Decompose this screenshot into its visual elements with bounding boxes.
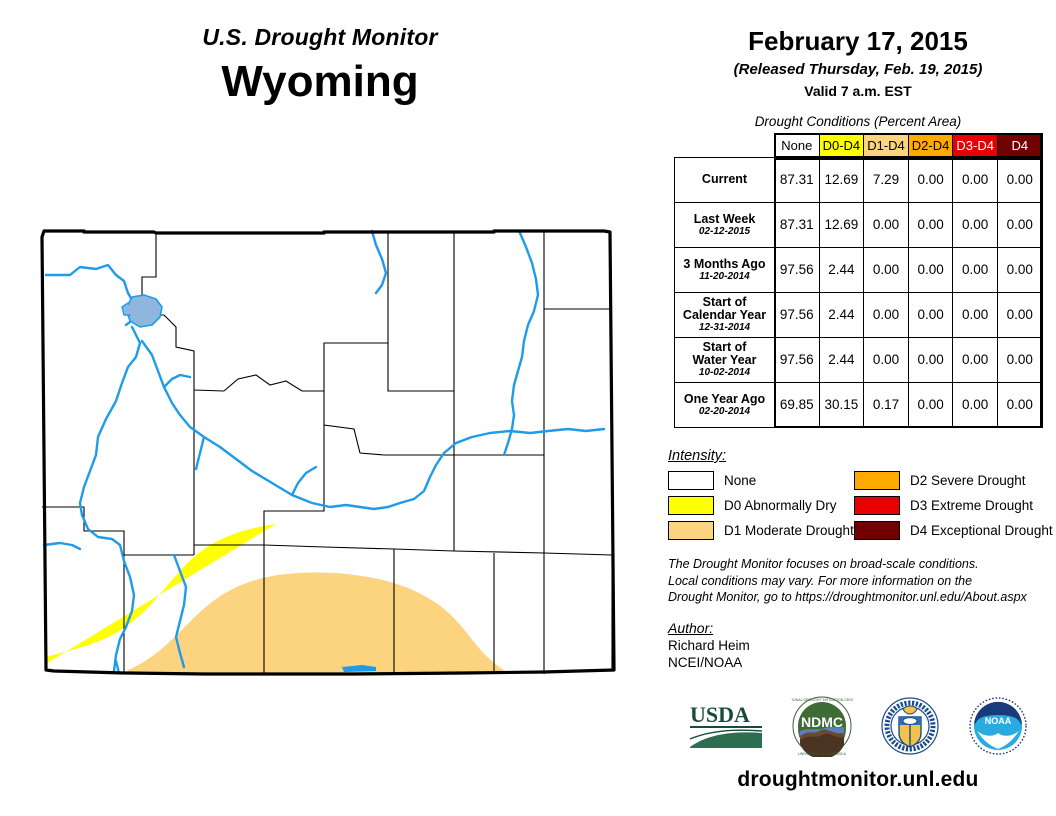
valid-time: Valid 7 a.m. EST — [660, 83, 1056, 99]
table-cell: 97.56 — [775, 248, 820, 293]
table-cell: 0.00 — [864, 338, 909, 383]
program-title: U.S. Drought Monitor — [0, 24, 640, 51]
intensity-legend-title: Intensity: — [668, 448, 1056, 464]
legend-item-d3: D3 Extreme Drought — [854, 496, 1040, 515]
legend-swatch-d3 — [854, 496, 900, 515]
table-cell: 0.00 — [953, 203, 998, 248]
table-cell: 0.00 — [953, 383, 998, 428]
table-cell: 30.15 — [819, 383, 864, 428]
disclaimer-line-2: Local conditions may vary. For more info… — [668, 573, 1056, 590]
table-cell: 87.31 — [775, 203, 820, 248]
table-cell: 0.00 — [864, 293, 909, 338]
author-block: Author: Richard Heim NCEI/NOAA — [668, 620, 1056, 670]
table-cell: 2.44 — [819, 293, 864, 338]
table-row-date: 02-12-2015 — [675, 227, 774, 238]
table-cell: 69.85 — [775, 383, 820, 428]
table-body: Current87.3112.697.290.000.000.00Last We… — [675, 158, 1043, 428]
row-label-line: Current — [675, 173, 774, 186]
row-label-line: Water Year — [675, 354, 774, 367]
disclaimer-text: The Drought Monitor focuses on broad-sca… — [668, 556, 1056, 606]
row-label-line: One Year Ago — [675, 393, 774, 406]
table-row-date: 11-20-2014 — [675, 272, 774, 283]
legend-label: D0 Abnormally Dry — [724, 498, 837, 513]
table-cell: 0.00 — [997, 338, 1042, 383]
table-row-label: One Year Ago02-20-2014 — [675, 383, 775, 428]
table-header-d4: D4 — [997, 134, 1042, 158]
table-cell: 97.56 — [775, 338, 820, 383]
table-cell: 0.17 — [864, 383, 909, 428]
conditions-table-frame: NoneD0-D4D1-D4D2-D4D3-D4D4 Current87.311… — [674, 133, 1042, 428]
svg-text:NATIONAL DROUGHT MITIGATION CE: NATIONAL DROUGHT MITIGATION CENTER — [791, 698, 853, 702]
legend-label: D3 Extreme Drought — [910, 498, 1033, 513]
table-row-label: Current — [675, 158, 775, 203]
legend-label: None — [724, 473, 756, 488]
table-cell: 2.44 — [819, 248, 864, 293]
table-cell: 87.31 — [775, 158, 820, 203]
table-row: Current87.3112.697.290.000.000.00 — [675, 158, 1043, 203]
table-row: One Year Ago02-20-201469.8530.150.170.00… — [675, 383, 1043, 428]
logo-row: USDA NDMC NATIONAL DROUGHT MITIGATION CE… — [660, 688, 1056, 764]
legend-item-d0: D0 Abnormally Dry — [668, 496, 854, 515]
legend-grid: NoneD2 Severe DroughtD0 Abnormally DryD3… — [668, 471, 1056, 540]
row-label-line: Last Week — [675, 213, 774, 226]
row-label-line: 3 Months Ago — [675, 258, 774, 271]
table-cell: 0.00 — [997, 383, 1042, 428]
svg-text:NDMC: NDMC — [801, 714, 843, 730]
usda-logo: USDA — [687, 701, 765, 751]
legend-item-none: None — [668, 471, 854, 490]
noaa-logo: NOAA — [967, 695, 1029, 757]
table-cell: 0.00 — [908, 203, 953, 248]
legend-swatch-d0 — [668, 496, 714, 515]
row-label-line: Calendar Year — [675, 309, 774, 322]
legend-label: D4 Exceptional Drought — [910, 523, 1053, 538]
legend-swatch-none — [668, 471, 714, 490]
table-cell: 0.00 — [953, 248, 998, 293]
table-cell: 12.69 — [819, 203, 864, 248]
table-row-date: 02-20-2014 — [675, 407, 774, 418]
table-row: 3 Months Ago11-20-201497.562.440.000.000… — [675, 248, 1043, 293]
table-cell: 0.00 — [864, 248, 909, 293]
table-row-label: 3 Months Ago11-20-2014 — [675, 248, 775, 293]
table-cell: 0.00 — [953, 158, 998, 203]
table-cell: 0.00 — [908, 158, 953, 203]
legend-swatch-d1 — [668, 521, 714, 540]
legend-swatch-d2 — [854, 471, 900, 490]
table-header-row: NoneD0-D4D1-D4D2-D4D3-D4D4 — [675, 134, 1043, 158]
table-cell: 97.56 — [775, 293, 820, 338]
legend-label: D1 Moderate Drought — [724, 523, 854, 538]
legend-item-d4: D4 Exceptional Drought — [854, 521, 1040, 540]
issue-date: February 17, 2015 — [660, 26, 1056, 57]
commerce-seal — [879, 695, 941, 757]
table-cell: 0.00 — [997, 248, 1042, 293]
release-date: (Released Thursday, Feb. 19, 2015) — [660, 61, 1056, 78]
table-cell: 0.00 — [864, 203, 909, 248]
legend-label: D2 Severe Drought — [910, 473, 1026, 488]
table-cell: 0.00 — [953, 338, 998, 383]
intensity-legend: Intensity: NoneD2 Severe DroughtD0 Abnor… — [668, 448, 1056, 540]
table-cell: 0.00 — [953, 293, 998, 338]
legend-item-d2: D2 Severe Drought — [854, 471, 1040, 490]
table-row-label: Last Week02-12-2015 — [675, 203, 775, 248]
table-row-label: Start ofCalendar Year12-31-2014 — [675, 293, 775, 338]
table-corner-cell — [675, 134, 775, 158]
table-header-none: None — [775, 134, 820, 158]
table-cell: 0.00 — [997, 158, 1042, 203]
table-cell: 0.00 — [997, 293, 1042, 338]
drought-map[interactable] — [24, 215, 640, 705]
table-cell: 0.00 — [908, 293, 953, 338]
table-row-date: 10-02-2014 — [675, 368, 774, 379]
legend-item-d1: D1 Moderate Drought — [668, 521, 854, 540]
state-title: Wyoming — [0, 57, 640, 107]
table-caption: Drought Conditions (Percent Area) — [660, 114, 1056, 129]
svg-text:NOAA: NOAA — [985, 716, 1012, 726]
author-affiliation: NCEI/NOAA — [668, 655, 1056, 670]
info-panel: February 17, 2015 (Released Thursday, Fe… — [660, 0, 1056, 816]
table-row: Start ofCalendar Year12-31-201497.562.44… — [675, 293, 1043, 338]
table-header-d1-d4: D1-D4 — [864, 134, 909, 158]
table-header-d3-d4: D3-D4 — [953, 134, 998, 158]
author-title: Author: — [668, 620, 1056, 636]
table-cell: 0.00 — [908, 248, 953, 293]
legend-swatch-d4 — [854, 521, 900, 540]
disclaimer-line-1: The Drought Monitor focuses on broad-sca… — [668, 556, 1056, 573]
table-row: Start ofWater Year10-02-201497.562.440.0… — [675, 338, 1043, 383]
table-cell: 0.00 — [997, 203, 1042, 248]
table-cell: 7.29 — [864, 158, 909, 203]
map-title-block: U.S. Drought Monitor Wyoming — [0, 24, 640, 107]
drought-conditions-table[interactable]: NoneD0-D4D1-D4D2-D4D3-D4D4 Current87.311… — [674, 133, 1043, 428]
author-name: Richard Heim — [668, 638, 1056, 653]
table-cell: 0.00 — [908, 338, 953, 383]
table-row-date: 12-31-2014 — [675, 323, 774, 334]
date-block: February 17, 2015 (Released Thursday, Fe… — [660, 0, 1056, 99]
table-header-d0-d4: D0-D4 — [819, 134, 864, 158]
footer-url[interactable]: droughtmonitor.unl.edu — [660, 768, 1056, 792]
table-row: Last Week02-12-201587.3112.690.000.000.0… — [675, 203, 1043, 248]
table-cell: 0.00 — [908, 383, 953, 428]
table-row-label: Start ofWater Year10-02-2014 — [675, 338, 775, 383]
svg-text:USDA: USDA — [690, 702, 750, 727]
disclaimer-line-3: Drought Monitor, go to https://droughtmo… — [668, 589, 1056, 606]
ndmc-logo: NDMC NATIONAL DROUGHT MITIGATION CENTER … — [791, 695, 853, 757]
svg-text:UNIVERSITY OF NEBRASKA: UNIVERSITY OF NEBRASKA — [798, 752, 847, 756]
table-cell: 12.69 — [819, 158, 864, 203]
table-cell: 2.44 — [819, 338, 864, 383]
table-header-d2-d4: D2-D4 — [908, 134, 953, 158]
